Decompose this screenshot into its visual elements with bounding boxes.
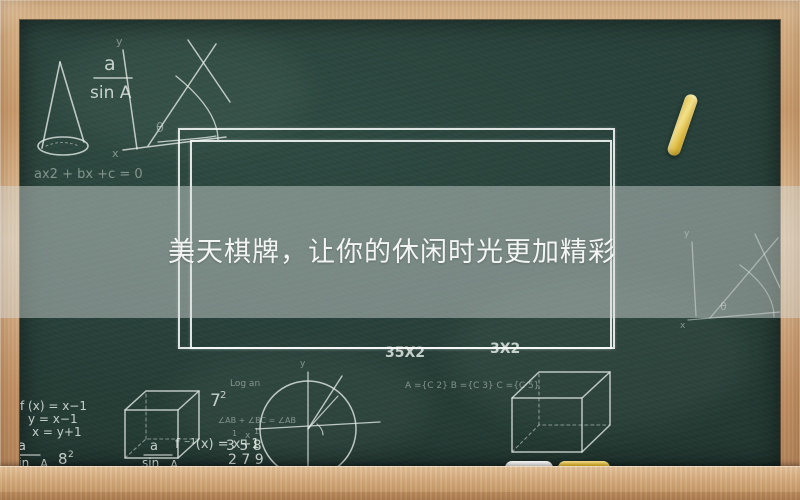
fraction-a-over-sinA-bottom-2: a sin A: [142, 439, 179, 466]
function-equations: f (x) = x−1 y = x−1 x = y+1: [20, 399, 87, 439]
svg-text:x: x: [245, 431, 251, 441]
cube-wireframe-right: [512, 372, 610, 452]
svg-text:y: y: [300, 359, 306, 369]
cone-drawing: [38, 62, 88, 155]
floating-yellow-chalk: [666, 93, 699, 158]
chalk-smudge: [170, 350, 430, 460]
svg-text:a: a: [150, 439, 158, 454]
svg-text:A: A: [40, 457, 49, 466]
seven-squared: 7 2: [210, 390, 226, 411]
svg-text:x: x: [680, 321, 686, 331]
chalkboard-banner-image: a sin A ax2 + bx +c = 0 y x θ: [0, 0, 800, 500]
small-angle-expression: ∠AB + ∠BC = ∠AB: [218, 416, 296, 425]
svg-text:a: a: [104, 53, 116, 75]
eight-squared: 8 2: [58, 450, 74, 466]
svg-text:sin A: sin A: [90, 83, 132, 103]
fraction-a-over-sinA-top: a sin A: [90, 53, 132, 103]
inverse-function-equation: f ⁻¹(x) = x+1: [175, 437, 260, 452]
svg-text:a: a: [20, 439, 26, 454]
svg-text:1: 1: [232, 429, 237, 438]
log-expression: Log an: [230, 379, 260, 389]
fraction-a-over-sinA-bottom-1: a sin A: [20, 439, 49, 466]
svg-text:3 5 8: 3 5 8: [226, 438, 262, 454]
svg-text:θ: θ: [156, 121, 164, 136]
chalk-ledge: [0, 466, 800, 500]
svg-text:y: y: [116, 35, 123, 48]
svg-text:sin: sin: [142, 456, 159, 466]
svg-text:sin: sin: [20, 456, 29, 466]
svg-text:f (x) = x−1: f (x) = x−1: [20, 399, 87, 413]
svg-text:x: x: [112, 147, 119, 160]
svg-text:8: 8: [58, 450, 68, 466]
svg-text:x = y+1: x = y+1: [32, 425, 82, 439]
unit-circle-diagram: y x: [245, 359, 380, 466]
cube-wireframe-left: [125, 391, 199, 458]
banner-title: 美天棋牌，让你的休闲时光更加精彩: [168, 236, 616, 270]
column-addition: 3 5 8 2 7 9 6 3 7 1 1: [223, 427, 265, 466]
quadratic-equation: ax2 + bx +c = 0: [34, 167, 143, 182]
set-notation: A ={C 2} B ={C 3} C ={C 5}: [405, 381, 540, 391]
svg-text:y = x−1: y = x−1: [28, 412, 78, 426]
svg-text:A: A: [170, 458, 179, 466]
svg-text:2: 2: [68, 450, 74, 460]
ledge-lip: [0, 492, 800, 500]
svg-text:1: 1: [254, 427, 259, 436]
svg-text:2: 2: [220, 390, 226, 401]
svg-text:7: 7: [210, 391, 221, 411]
svg-text:2 7 9: 2 7 9: [228, 452, 264, 466]
